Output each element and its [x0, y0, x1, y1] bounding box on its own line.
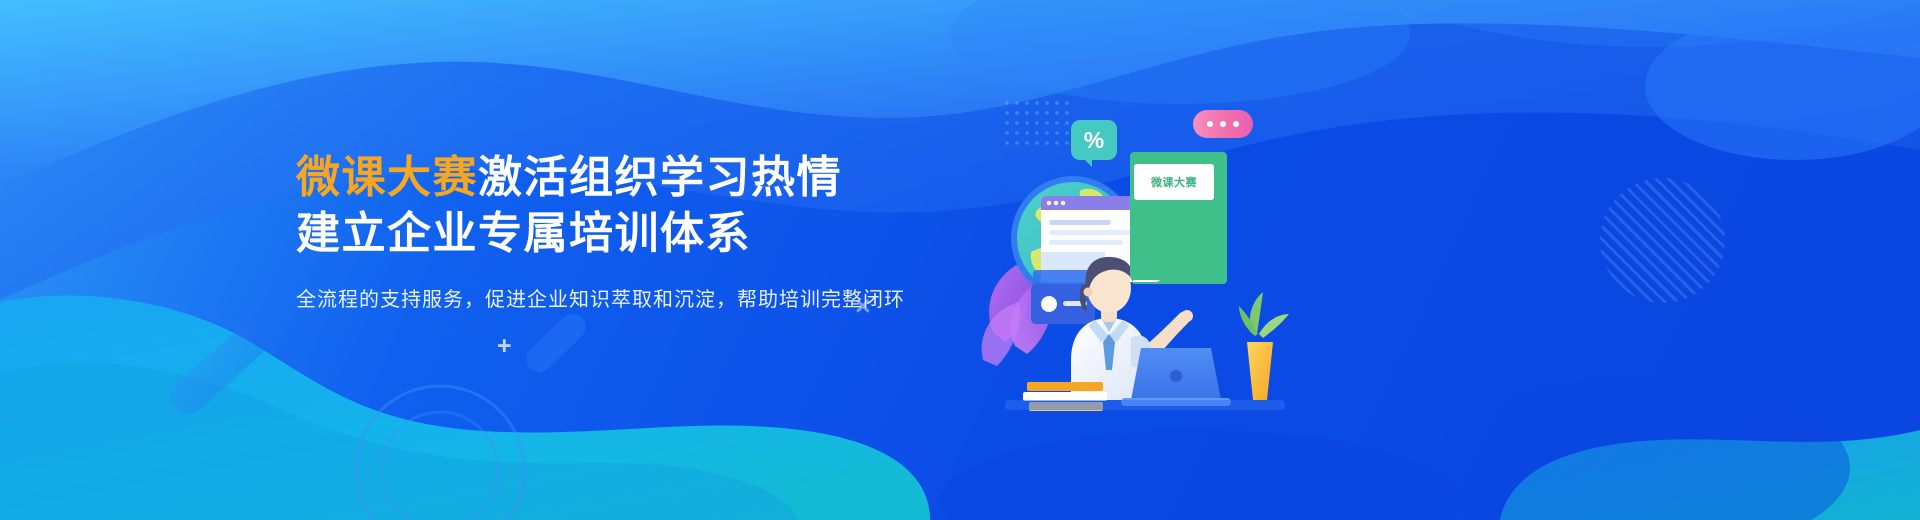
- headline-line-2: 建立企业专属培训体系: [296, 206, 916, 262]
- chat-dot-3: [1233, 121, 1239, 127]
- percent-badge-label: %: [1084, 129, 1104, 152]
- chat-dot-1: [1207, 121, 1213, 127]
- headline-rest: 激活组织学习热情: [478, 153, 842, 202]
- promo-banner: + × 微课大赛激活组织学习热情 建立企业专属培训体系 全流程的支持服务，促进企…: [0, 0, 1920, 520]
- chat-dot-2: [1220, 121, 1226, 127]
- chat-bubble: [1193, 110, 1253, 138]
- green-card: 微课大赛: [1130, 152, 1226, 280]
- green-card-label: 微课大赛: [1151, 174, 1197, 190]
- green-card-title-box: 微课大赛: [1134, 164, 1214, 200]
- percent-badge: %: [1071, 120, 1117, 160]
- banner-copy: 微课大赛激活组织学习热情 建立企业专属培训体系 全流程的支持服务，促进企业知识萃…: [296, 150, 916, 315]
- headline-line-1: 微课大赛激活组织学习热情: [296, 150, 916, 206]
- banner-subtitle: 全流程的支持服务，促进企业知识萃取和沉淀，帮助培训完整闭环: [296, 285, 916, 315]
- plus-mark: +: [497, 334, 512, 359]
- background-decoration: [0, 0, 1920, 520]
- potted-plant: [1239, 292, 1289, 400]
- headline-accent: 微课大赛: [296, 153, 478, 202]
- striped-circle: [1600, 178, 1725, 303]
